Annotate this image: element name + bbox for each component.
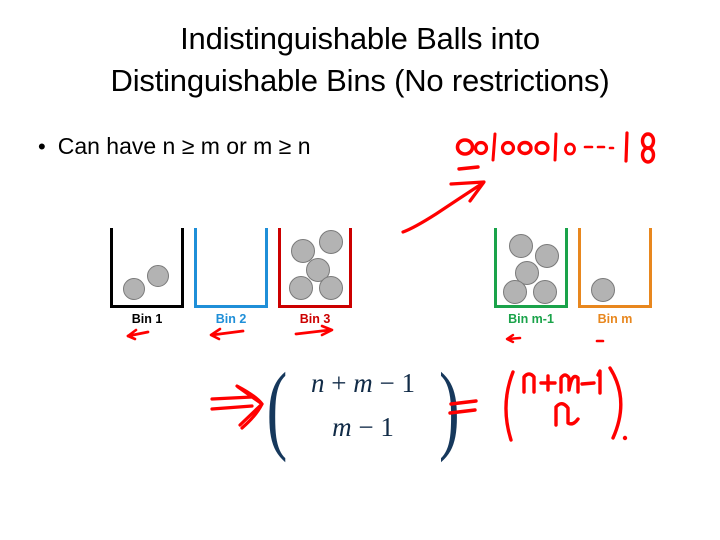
handwritten-bottom-n [556, 404, 578, 425]
handwritten-one [598, 371, 600, 393]
bullet-text: Can have n ≥ m or m ≥ n [58, 132, 311, 160]
formula-top-n: n [311, 368, 325, 398]
bin-outline-2 [194, 228, 268, 308]
star-glyph [643, 134, 654, 148]
ball [289, 276, 313, 300]
ball [123, 278, 145, 300]
ball [319, 276, 343, 300]
star-glyph [643, 148, 654, 162]
ball [319, 230, 343, 254]
ball [509, 234, 533, 258]
formula-top-row: n + m − 1 [268, 368, 458, 399]
bin-outline-3 [278, 228, 352, 308]
bin-tick-mark [128, 330, 148, 339]
formula-top-m: m [353, 368, 373, 398]
bar-glyph [555, 134, 556, 160]
star-glyph [503, 143, 514, 154]
handwritten-period [623, 436, 627, 440]
ball [591, 278, 615, 302]
bullet-item: • Can have n ≥ m or m ≥ n [38, 132, 311, 160]
handwritten-close-paren [610, 368, 621, 438]
bin-label-m: Bin m [575, 312, 655, 326]
star-glyph [476, 143, 487, 154]
bin-outline-1 [110, 228, 184, 308]
page-title: Indistinguishable Balls into Distinguish… [30, 18, 690, 102]
binomial-formula: ( ) n + m − 1 m − 1 [268, 362, 458, 458]
underline-mark [459, 167, 478, 169]
handwritten-minus [582, 383, 594, 384]
ball [533, 280, 557, 304]
formula-top-one: 1 [401, 368, 415, 398]
bar-glyph [493, 134, 495, 160]
formula-bottom-m: m [332, 412, 352, 442]
handwritten-open-paren [506, 372, 513, 440]
handwritten-binomial [506, 368, 627, 440]
title-line-2: Distinguishable Bins (No restrictions) [30, 60, 690, 102]
star-glyph [519, 143, 531, 154]
bin-tick-mark [507, 335, 520, 342]
formula-bottom-one: 1 [380, 412, 394, 442]
bin-outline-m-minus-1 [494, 228, 568, 308]
formula-bottom-row: m − 1 [268, 412, 458, 443]
bin-label-2: Bin 2 [191, 312, 271, 326]
curved-arrow-to-stars-and-bars [403, 182, 484, 232]
bin-outline-m [578, 228, 652, 308]
formula-bottom-minus: − [358, 412, 373, 442]
formula-top-plus: + [331, 368, 346, 398]
bullet-marker: • [38, 136, 46, 158]
bin-tick-marks [128, 326, 603, 342]
formula-top-minus: − [380, 368, 395, 398]
bin-tick-mark [211, 329, 243, 339]
ball [535, 244, 559, 268]
handwritten-n [524, 374, 534, 392]
star-glyph [536, 143, 548, 154]
title-line-1: Indistinguishable Balls into [30, 18, 690, 60]
bin-label-3: Bin 3 [275, 312, 355, 326]
star-glyph [458, 140, 473, 154]
slide-canvas: Indistinguishable Balls into Distinguish… [0, 0, 720, 540]
star-glyph [566, 144, 575, 154]
bin-tick-mark [296, 326, 332, 335]
ball [503, 280, 527, 304]
implies-double-arrow [212, 386, 262, 428]
bin-label-m-minus-1: Bin m-1 [486, 312, 576, 326]
bin-label-1: Bin 1 [107, 312, 187, 326]
ball [147, 265, 169, 287]
stars-and-bars-annotation [458, 133, 654, 169]
handwritten-m [561, 375, 578, 392]
bar-glyph [626, 133, 627, 161]
